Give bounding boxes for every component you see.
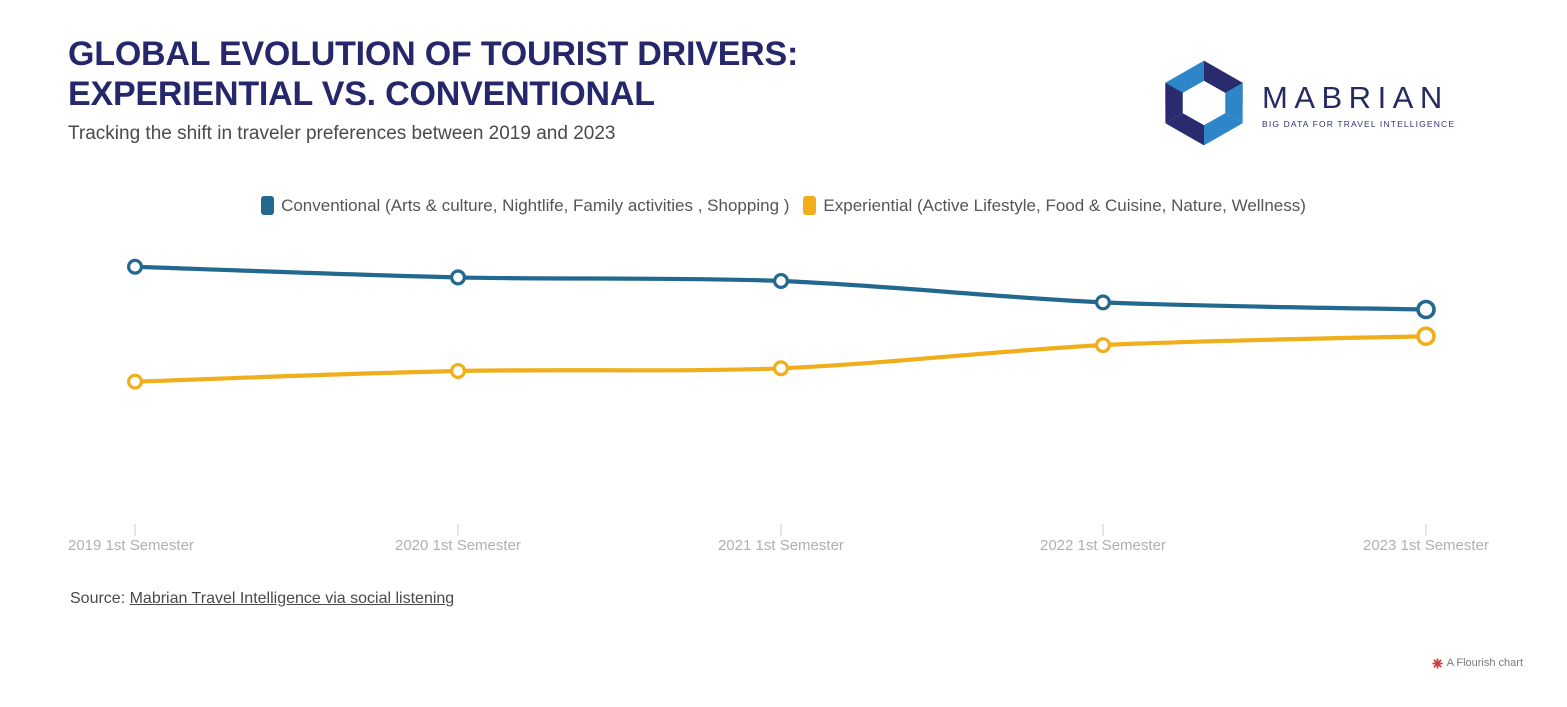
mabrian-hexagon-icon xyxy=(1158,57,1250,149)
series-line-0 xyxy=(135,267,1426,310)
series-line-1 xyxy=(135,336,1426,381)
chart-page: GLOBAL EVOLUTION OF TOURIST DRIVERS: EXP… xyxy=(0,0,1567,707)
data-point-marker[interactable] xyxy=(129,260,142,273)
source-prefix: Source: xyxy=(70,590,130,607)
source-link[interactable]: Mabrian Travel Intelligence via social l… xyxy=(130,590,455,607)
data-point-marker[interactable] xyxy=(1418,328,1434,344)
mabrian-logo: MABRIAN BIG DATA FOR TRAVEL INTELLIGENCE xyxy=(1158,57,1455,149)
mabrian-logo-text: MABRIAN BIG DATA FOR TRAVEL INTELLIGENCE xyxy=(1262,78,1455,129)
legend-item-conventional[interactable]: Conventional (Arts & culture, Nightlife,… xyxy=(261,196,789,215)
legend-label-conventional: Conventional (Arts & culture, Nightlife,… xyxy=(281,197,789,214)
legend-label-experiential: Experiential (Active Lifestyle, Food & C… xyxy=(823,197,1306,214)
flourish-credit[interactable]: A Flourish chart xyxy=(1432,658,1523,669)
legend-item-experiential[interactable]: Experiential (Active Lifestyle, Food & C… xyxy=(803,196,1306,215)
flourish-asterisk-icon xyxy=(1432,658,1443,669)
page-title: GLOBAL EVOLUTION OF TOURIST DRIVERS: EXP… xyxy=(68,34,1128,114)
chart-header: GLOBAL EVOLUTION OF TOURIST DRIVERS: EXP… xyxy=(68,34,1128,147)
data-point-marker[interactable] xyxy=(775,362,788,375)
data-point-marker[interactable] xyxy=(129,375,142,388)
page-subtitle: Tracking the shift in traveler preferenc… xyxy=(68,122,1128,147)
data-point-marker[interactable] xyxy=(452,271,465,284)
flourish-credit-label: A Flourish chart xyxy=(1447,658,1523,669)
data-point-marker[interactable] xyxy=(1418,301,1434,317)
source-note: Source: Mabrian Travel Intelligence via … xyxy=(70,589,454,608)
legend-swatch-experiential xyxy=(803,196,816,215)
mabrian-wordmark: MABRIAN xyxy=(1262,82,1455,113)
data-point-marker[interactable] xyxy=(452,365,465,378)
data-point-marker[interactable] xyxy=(1097,296,1110,309)
x-axis-label-2: 2021 1st Semester xyxy=(718,538,844,553)
x-axis-label-0: 2019 1st Semester xyxy=(68,538,194,553)
x-axis-label-4: 2023 1st Semester xyxy=(1363,538,1489,553)
data-point-marker[interactable] xyxy=(775,275,788,288)
data-point-marker[interactable] xyxy=(1097,339,1110,352)
x-axis: 2019 1st Semester2020 1st Semester2021 1… xyxy=(0,538,1567,562)
legend-swatch-conventional xyxy=(261,196,274,215)
chart-legend: Conventional (Arts & culture, Nightlife,… xyxy=(0,196,1567,215)
mabrian-tagline: BIG DATA FOR TRAVEL INTELLIGENCE xyxy=(1262,120,1455,129)
x-axis-label-3: 2022 1st Semester xyxy=(1040,538,1166,553)
x-axis-label-1: 2020 1st Semester xyxy=(395,538,521,553)
